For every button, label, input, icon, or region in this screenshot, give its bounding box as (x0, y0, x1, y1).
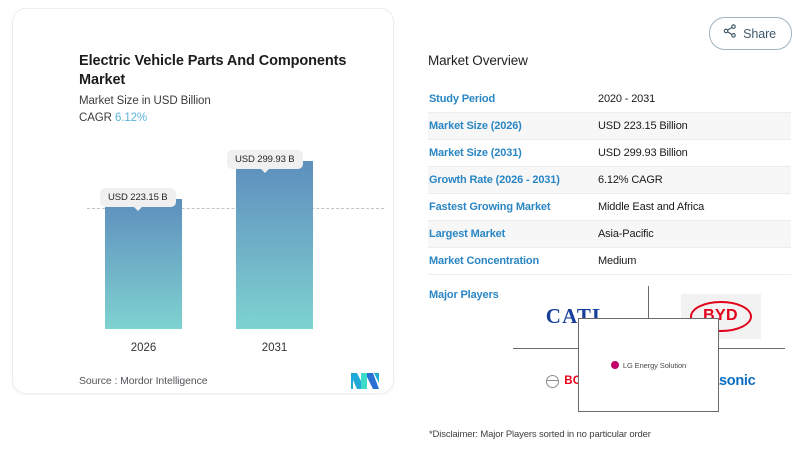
x-axis-label-2031: 2031 (236, 342, 313, 354)
row-value: USD 223.15 Billion (598, 120, 791, 132)
bar-2026[interactable] (105, 199, 182, 329)
share-button-label: Share (743, 27, 776, 41)
chart-subtitle: Market Size in USD Billion (79, 95, 211, 107)
market-overview-heading: Market Overview (428, 53, 528, 68)
row-key: Growth Rate (2026 - 2031) (428, 174, 598, 186)
table-row: Market Concentration Medium (428, 248, 791, 275)
table-row: Fastest Growing Market Middle East and A… (428, 194, 791, 221)
lg-circle-icon (611, 361, 619, 369)
chart-cagr: CAGR 6.12% (79, 112, 147, 124)
market-overview-table: Study Period 2020 - 2031 Market Size (20… (428, 86, 791, 275)
row-value: Asia-Pacific (598, 228, 791, 240)
cagr-label: CAGR (79, 112, 112, 124)
lg-energy-solution-logo: LG Energy Solution (611, 361, 686, 370)
player-cell-lg-energy-solution: LG Energy Solution (578, 318, 719, 412)
row-key: Market Size (2031) (428, 147, 598, 159)
market-summary-page: Electric Vehicle Parts And Components Ma… (0, 0, 800, 459)
table-row: Market Size (2026) USD 223.15 Billion (428, 113, 791, 140)
table-row: Largest Market Asia-Pacific (428, 221, 791, 248)
chart-card: Electric Vehicle Parts And Components Ma… (12, 8, 394, 394)
source-row: Source : Mordor Intelligence (79, 373, 379, 389)
bar-chart-plot: USD 223.15 B USD 299.93 B 2026 2031 (79, 129, 379, 339)
row-key: Largest Market (428, 228, 598, 240)
table-row: Growth Rate (2026 - 2031) 6.12% CAGR (428, 167, 791, 194)
market-overview-panel: Share Market Overview Study Period 2020 … (412, 8, 792, 452)
bar-2031[interactable] (236, 161, 313, 329)
row-key: Study Period (428, 93, 598, 105)
row-key: Market Concentration (428, 255, 598, 267)
row-key: Market Size (2026) (428, 120, 598, 132)
source-text: Source : Mordor Intelligence (79, 375, 208, 387)
row-value: 6.12% CAGR (598, 174, 791, 186)
bar-value-label-2026: USD 223.15 B (100, 188, 176, 207)
major-players-logo-grid: CATL BYD BOSCH Panasonic LG Energy (505, 282, 792, 410)
x-axis-label-2026: 2026 (105, 342, 182, 354)
table-row: Market Size (2031) USD 299.93 Billion (428, 140, 791, 167)
row-value: Middle East and Africa (598, 201, 791, 213)
chart-title: Electric Vehicle Parts And Components Ma… (79, 52, 349, 91)
table-row: Study Period 2020 - 2031 (428, 86, 791, 113)
lg-logo-text: LG Energy Solution (623, 361, 686, 370)
major-players-label: Major Players (429, 289, 499, 301)
disclaimer-text: *Disclaimer: Major Players sorted in no … (429, 429, 651, 440)
bosch-anchor-icon (546, 375, 559, 388)
cagr-value: 6.12% (115, 112, 147, 124)
share-nodes-icon (723, 24, 737, 43)
mordor-intelligence-logo-icon (351, 373, 379, 389)
bar-value-label-2031: USD 299.93 B (227, 150, 303, 169)
row-value: 2020 - 2031 (598, 93, 791, 105)
row-value: Medium (598, 255, 791, 267)
row-key: Fastest Growing Market (428, 201, 598, 213)
row-value: USD 299.93 Billion (598, 147, 791, 159)
share-button[interactable]: Share (709, 17, 792, 50)
